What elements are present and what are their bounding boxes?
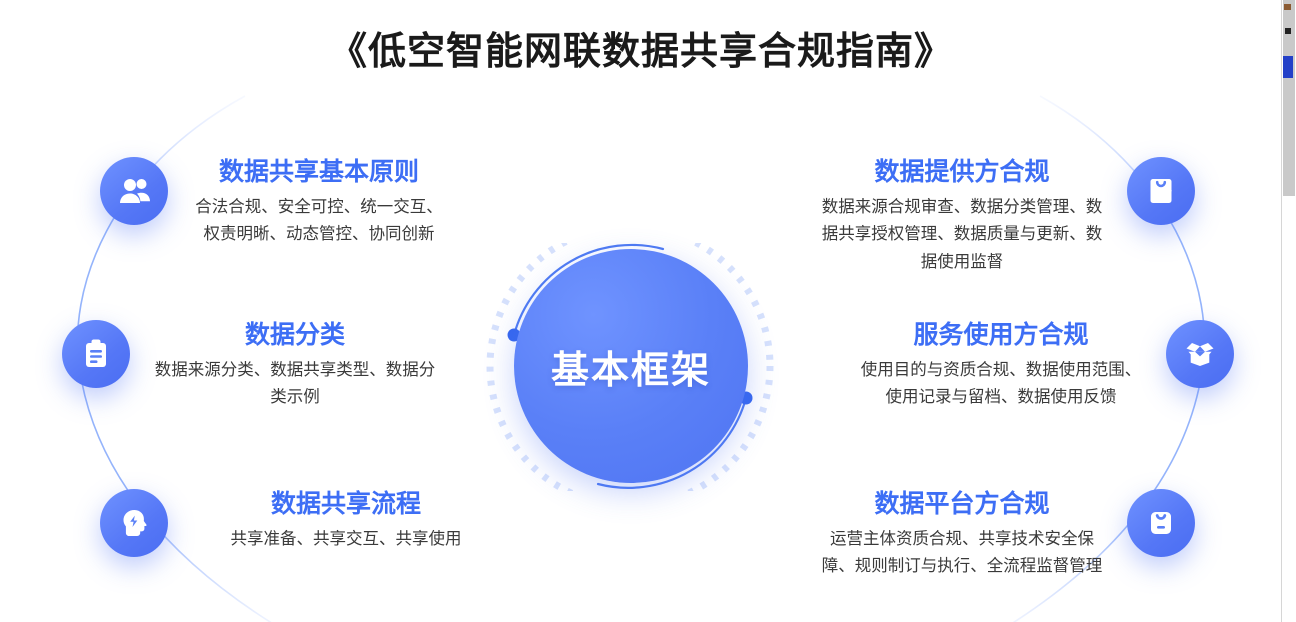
node-classify-desc: 数据来源分类、数据共享类型、数据分类示例	[152, 357, 438, 411]
node-platform-title: 数据平台方合规	[874, 489, 1049, 520]
node-classify-text: 数据分类 数据来源分类、数据共享类型、数据分类示例	[152, 320, 438, 412]
node-provider-text: 数据提供方合规 数据来源合规审查、数据分类管理、数据共享授权管理、数据质量与更新…	[819, 157, 1105, 276]
node-platform-text: 数据平台方合规 运营主体资质合规、共享技术安全保障、规则制订与执行、全流程监督管…	[819, 489, 1105, 581]
node-flow[interactable]: 数据共享流程 共享准备、共享交互、共享使用	[100, 489, 502, 557]
node-flow-text: 数据共享流程 共享准备、共享交互、共享使用	[190, 489, 502, 553]
open-box-icon	[1166, 320, 1234, 388]
node-principles-title: 数据共享基本原则	[219, 157, 419, 188]
node-principles-desc: 合法合规、安全可控、统一交互、权责明晰、动态管控、协同创新	[190, 194, 448, 248]
node-flow-title: 数据共享流程	[271, 489, 421, 520]
document-check-icon	[1127, 157, 1195, 225]
node-consumer-desc: 使用目的与资质合规、数据使用范围、使用记录与留档、数据使用反馈	[858, 357, 1144, 411]
node-platform[interactable]: 数据平台方合规 运营主体资质合规、共享技术安全保障、规则制订与执行、全流程监督管…	[819, 489, 1195, 581]
scrollbar-marker-mid	[1285, 28, 1291, 34]
node-classify-title: 数据分类	[245, 320, 345, 351]
page-scrollbar[interactable]	[1281, 0, 1296, 622]
card-smile-icon	[1127, 489, 1195, 557]
center-hub: 基本框架	[478, 243, 782, 491]
node-platform-desc: 运营主体资质合规、共享技术安全保障、规则制订与执行、全流程监督管理	[819, 526, 1105, 580]
node-provider-title: 数据提供方合规	[874, 157, 1049, 188]
hub-label: 基本框架	[551, 339, 711, 394]
users-icon	[100, 157, 168, 225]
infographic-canvas: 《低空智能网联数据共享合规指南》	[0, 0, 1296, 622]
hub-circle: 基本框架	[514, 249, 748, 483]
clipboard-icon	[62, 320, 130, 388]
node-provider-desc: 数据来源合规审查、数据分类管理、数据共享授权管理、数据质量与更新、数据使用监督	[819, 194, 1105, 276]
page-title: 《低空智能网联数据共享合规指南》	[0, 30, 1282, 76]
node-consumer-text: 服务使用方合规 使用目的与资质合规、数据使用范围、使用记录与留档、数据使用反馈	[858, 320, 1144, 412]
node-consumer[interactable]: 服务使用方合规 使用目的与资质合规、数据使用范围、使用记录与留档、数据使用反馈	[858, 320, 1234, 412]
brain-bolt-icon	[100, 489, 168, 557]
scrollbar-marker-highlight	[1283, 56, 1293, 78]
scrollbar-marker-top	[1284, 4, 1291, 10]
node-provider[interactable]: 数据提供方合规 数据来源合规审查、数据分类管理、数据共享授权管理、数据质量与更新…	[819, 157, 1195, 276]
node-principles-text: 数据共享基本原则 合法合规、安全可控、统一交互、权责明晰、动态管控、协同创新	[190, 157, 448, 249]
node-principles[interactable]: 数据共享基本原则 合法合规、安全可控、统一交互、权责明晰、动态管控、协同创新	[100, 157, 448, 249]
node-flow-desc: 共享准备、共享交互、共享使用	[190, 526, 502, 553]
node-classify[interactable]: 数据分类 数据来源分类、数据共享类型、数据分类示例	[62, 320, 438, 412]
node-consumer-title: 服务使用方合规	[913, 320, 1088, 351]
